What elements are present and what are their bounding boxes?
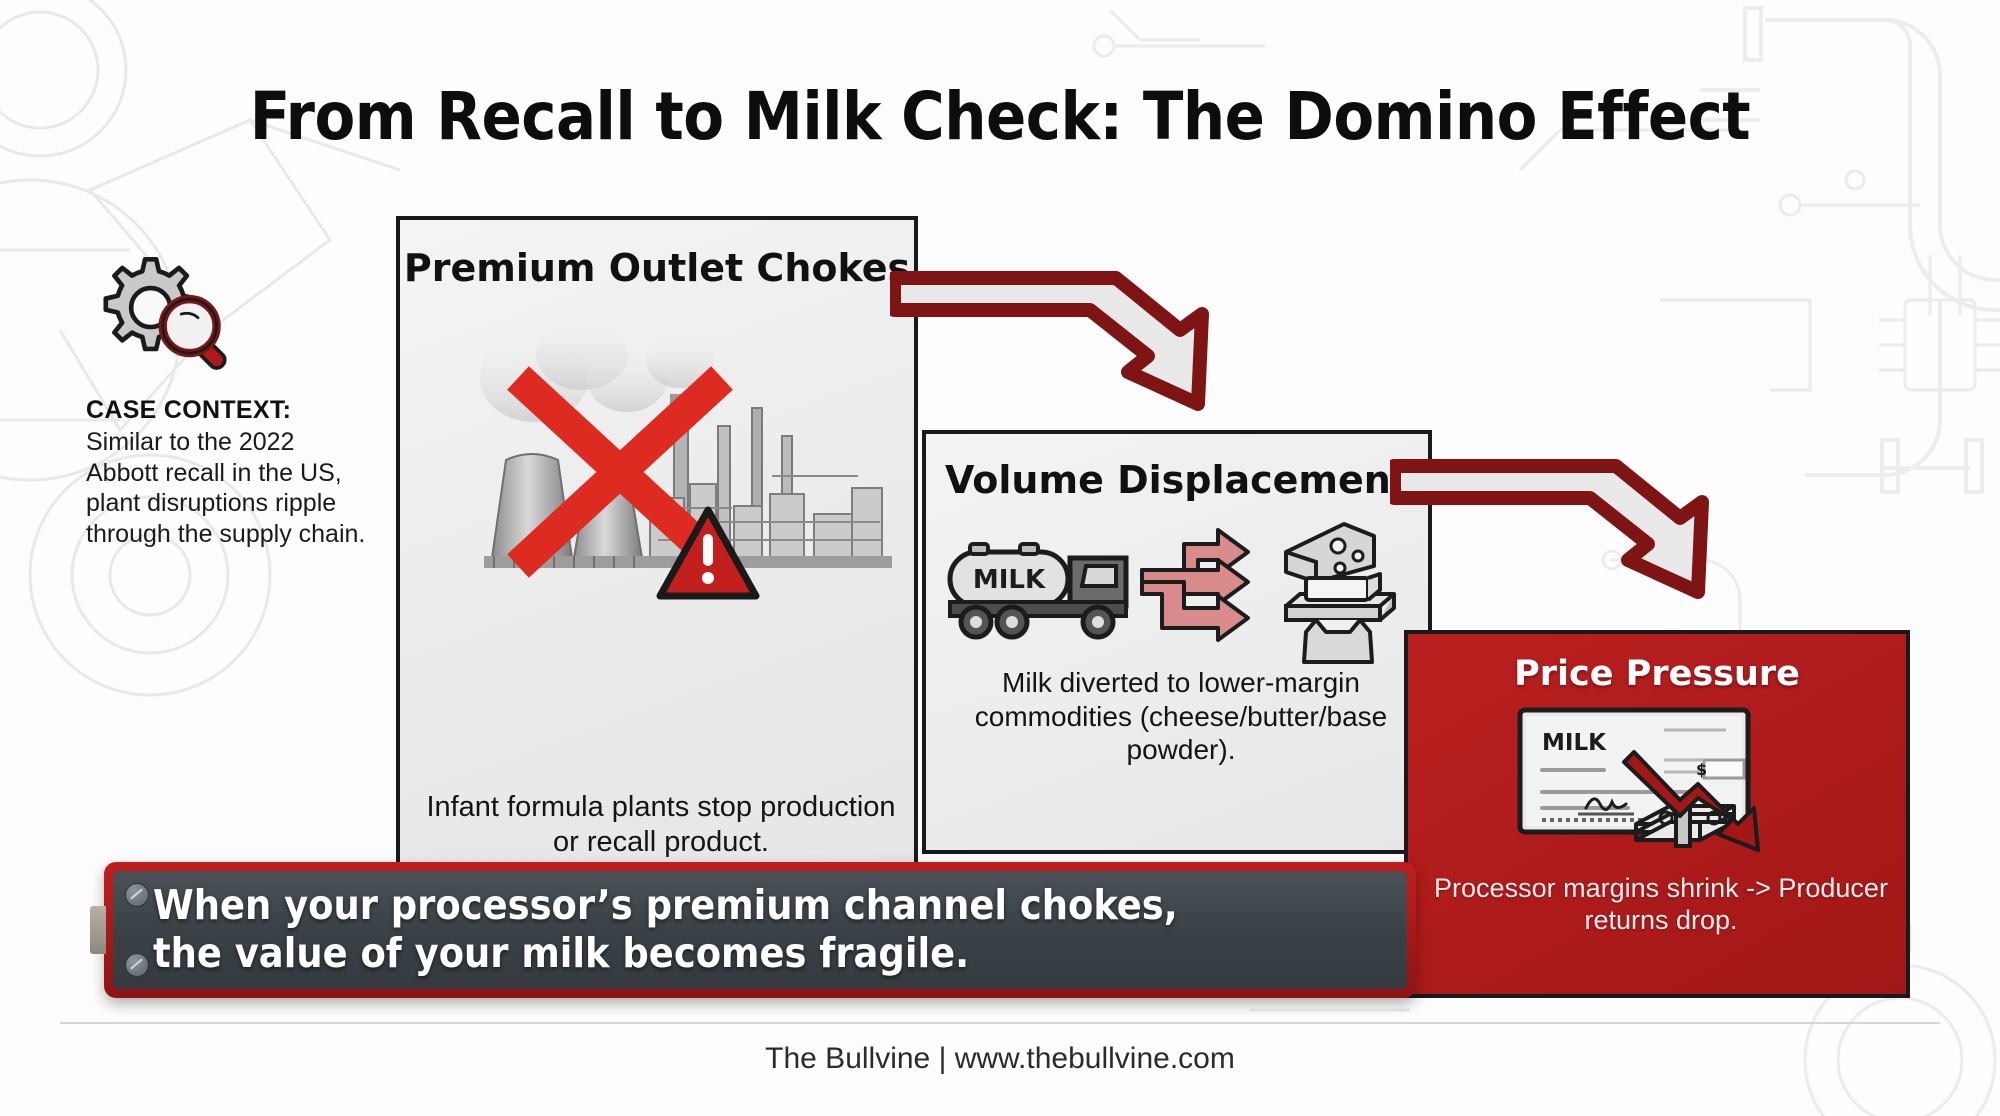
footer-attribution: The Bullvine | www.thebullvine.com	[0, 1042, 2000, 1076]
currency-symbol: $	[1696, 760, 1707, 779]
connector-arrow-2	[1390, 440, 1720, 630]
step-title: Volume Displacement	[926, 458, 1428, 502]
step-card-premium-outlet-chokes[interactable]: Premium Outlet Chokes	[396, 216, 918, 866]
step-card-price-pressure[interactable]: Price Pressure MILK $	[1404, 630, 1910, 998]
banner-line-2: the value of your milk becomes fragile.	[153, 930, 1178, 978]
powder-bag-icon	[1304, 620, 1372, 662]
gear-magnifier-icon	[92, 250, 252, 380]
connector-arrow-1	[890, 252, 1220, 442]
step-caption: Milk diverted to lower-margin commoditie…	[938, 666, 1424, 767]
infographic-canvas: From Recall to Milk Check: The Domino Ef…	[0, 0, 2000, 1116]
screw-icon	[125, 883, 149, 907]
banner-plate: When your processor’s premium channel ch…	[113, 871, 1407, 989]
milk-tanker-truck-icon: MILK	[950, 544, 1126, 637]
cheese-wedge-icon	[1286, 524, 1374, 582]
case-context-heading: CASE CONTEXT:	[86, 396, 366, 425]
step-caption: Infant formula plants stop production or…	[414, 790, 908, 860]
step-title: Price Pressure	[1408, 654, 1906, 694]
industrial-plant-icon	[422, 308, 900, 638]
milk-check-icon: MILK $	[1516, 704, 1806, 854]
case-context-body: Similar to the 2022 Abbott recall in the…	[86, 427, 366, 549]
butter-block-icon	[1286, 574, 1394, 620]
commodity-diversion-diagram: MILK	[946, 514, 1416, 664]
key-message-banner: When your processor’s premium channel ch…	[104, 862, 1416, 998]
page-title: From Recall to Milk Check: The Domino Ef…	[0, 78, 2000, 155]
truck-label: MILK	[973, 565, 1046, 595]
case-context-block: CASE CONTEXT: Similar to the 2022 Abbott…	[86, 250, 366, 549]
split-arrow-icon	[1142, 530, 1248, 640]
step-card-volume-displacement[interactable]: Volume Displacement MILK	[922, 430, 1432, 854]
screw-icon	[125, 953, 149, 977]
banner-line-1: When your processor’s premium channel ch…	[153, 882, 1178, 930]
footer-divider	[60, 1022, 1940, 1024]
step-caption: Processor margins shrink -> Producer ret…	[1420, 872, 1902, 937]
check-label: MILK	[1542, 730, 1607, 756]
step-title: Premium Outlet Chokes	[400, 246, 914, 290]
banner-side-tab	[90, 906, 106, 954]
